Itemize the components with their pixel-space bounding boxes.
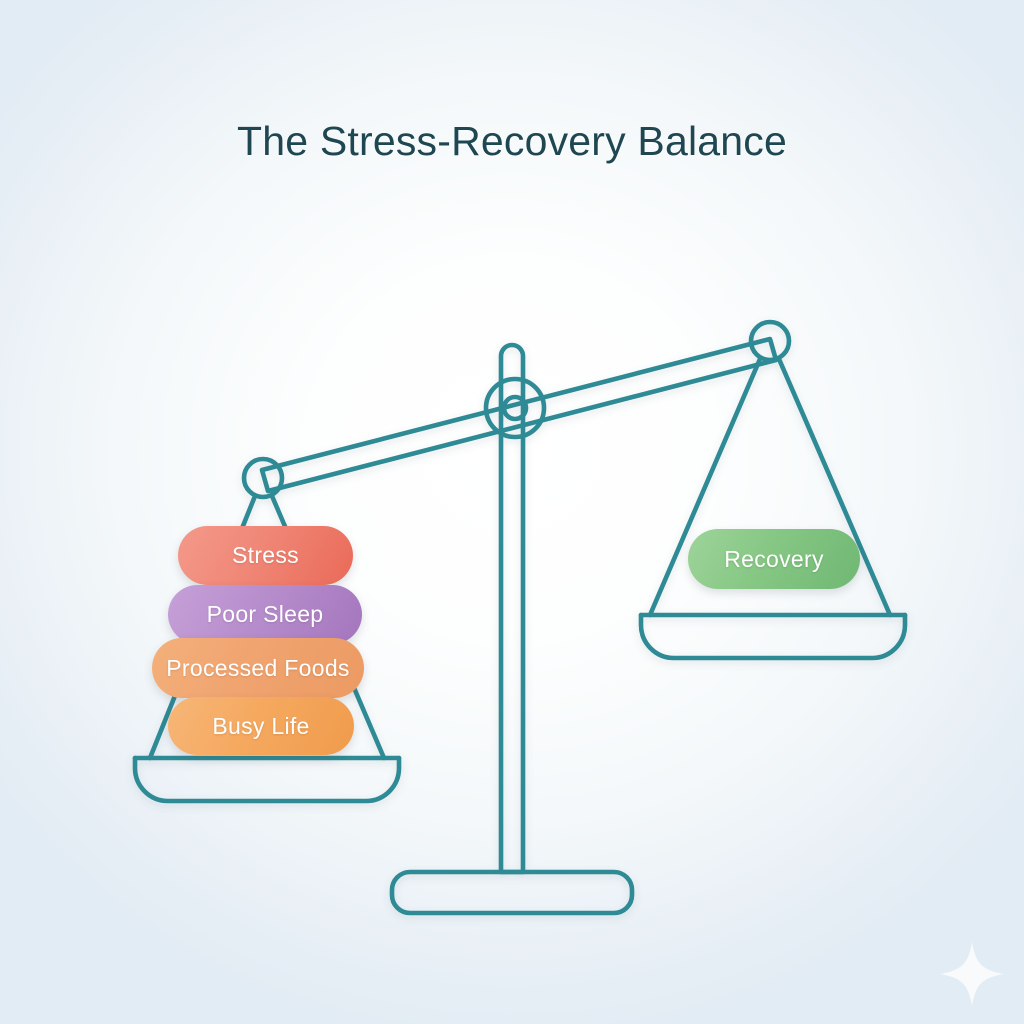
left-pan-item-label: Poor Sleep	[207, 601, 324, 628]
left-pan-item-poor-sleep: Poor Sleep	[168, 585, 362, 644]
left-pan-item-processed-foods: Processed Foods	[152, 638, 364, 698]
left-pan-item-label: Busy Life	[212, 713, 309, 740]
balance-scale-illustration	[0, 0, 1024, 1024]
right-pan-item-label: Recovery	[724, 546, 824, 573]
balance-beam	[262, 339, 776, 491]
illustration-canvas: The Stress-Recovery Balance	[0, 0, 1024, 1024]
scale-base	[392, 872, 632, 913]
left-pan-tray	[135, 758, 399, 801]
right-pan-item-recovery: Recovery	[688, 529, 860, 589]
left-pan-item-label: Stress	[232, 542, 299, 569]
sparkle-icon	[940, 942, 1004, 1006]
left-pan-item-label: Processed Foods	[166, 655, 349, 682]
left-pan-item-busy-life: Busy Life	[168, 697, 354, 755]
left-pan-item-stress: Stress	[178, 526, 353, 585]
right-pan-tray	[641, 615, 905, 658]
